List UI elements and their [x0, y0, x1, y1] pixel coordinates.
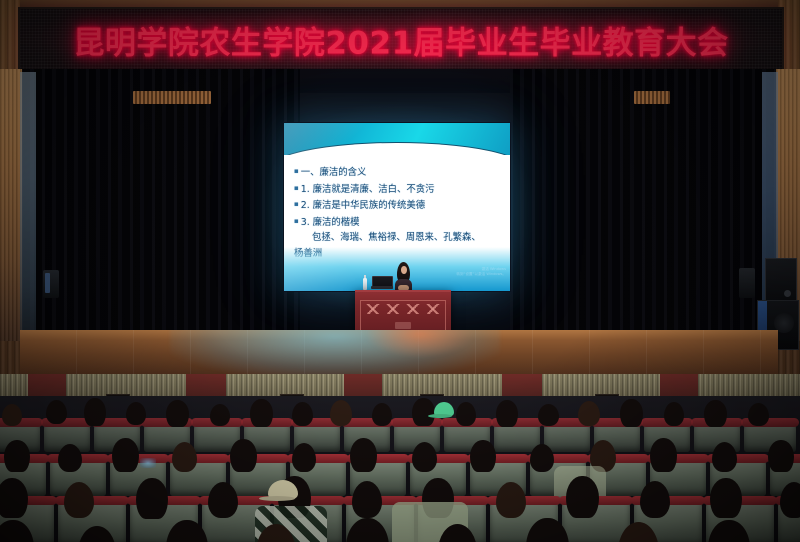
led-banner: 昆明学院农生学院2021届毕业生毕业教育大会: [18, 7, 784, 73]
laptop-base: [371, 286, 393, 289]
audience-head: [578, 401, 600, 426]
seat: [544, 422, 590, 452]
audience-head: [172, 442, 197, 472]
audience-head: [780, 482, 800, 518]
audience-head: [496, 482, 526, 518]
audience-head: [292, 443, 316, 472]
slide-line-2: ▪1. 廉洁就是清廉、洁白、不贪污: [294, 181, 502, 198]
audience-head: [136, 478, 168, 519]
audience-head: [640, 481, 670, 518]
podium-zigzag-ornament: [363, 304, 443, 314]
auditorium-photo: 昆明学院农生学院2021届毕业生毕业教育大会 ▪一、廉洁的含义: [0, 0, 800, 542]
audience-head: [350, 438, 377, 472]
phone-screen-glow: [140, 458, 156, 468]
audience-head: [768, 440, 794, 472]
audience-head: [352, 481, 382, 518]
audience-head: [748, 403, 769, 426]
slide-line-4: ▪3. 廉洁的楷模: [294, 214, 502, 231]
slide-bullet-icon: ▪: [294, 217, 299, 225]
slide-header-band: [284, 123, 510, 155]
audience-head: [704, 400, 727, 427]
audience-head: [210, 404, 230, 426]
presenter-face: [401, 266, 407, 274]
audience-head: [0, 478, 28, 518]
water-bottle: [363, 278, 367, 290]
loudspeaker-top-cabinet: [765, 258, 797, 302]
audience-head: [112, 438, 139, 472]
valance-trim-left: [133, 91, 211, 104]
side-wood-left: [0, 69, 22, 341]
audience-seating: [0, 396, 800, 542]
audience-head: [664, 402, 684, 426]
audience-head: [412, 398, 435, 426]
slide-bullet-icon: ▪: [294, 200, 299, 208]
audience-head: [470, 440, 496, 472]
audience-head: [620, 399, 643, 427]
audience-head: [372, 403, 392, 426]
side-accent-strip-left: [20, 72, 36, 340]
led-banner-text: 昆明学院农生学院2021届毕业生毕业教育大会: [20, 18, 782, 63]
audience-head: [710, 478, 742, 518]
podium-emblem: [395, 322, 411, 329]
audience-head: [64, 482, 94, 518]
audience-head: [4, 440, 30, 472]
curtain-left: [20, 69, 300, 344]
audience-head: [292, 402, 313, 426]
slide-header-curve: [284, 143, 510, 155]
audience-head: [412, 442, 437, 472]
audience-head: [496, 400, 518, 427]
audience-head: [166, 400, 189, 427]
audience-head: [250, 399, 273, 427]
slide-line-3: ▪2. 廉洁是中华民族的传统美德: [294, 197, 502, 214]
audience-head: [538, 404, 559, 426]
valance-trim-right: [634, 91, 670, 104]
audience-head: [126, 402, 146, 425]
audience-head: [58, 444, 82, 472]
audience-head: [2, 404, 22, 426]
audience-head: [46, 400, 67, 424]
curtain-right: [510, 69, 778, 344]
audience-head: [566, 476, 599, 518]
loudspeaker-stage-right: [739, 268, 755, 298]
stage-floor-warm-reflection: [365, 330, 475, 358]
slide-bullet-icon: ▪: [294, 184, 299, 192]
audience-head: [330, 400, 352, 426]
audience-head: [230, 439, 257, 472]
audience-head: [712, 442, 737, 472]
slide-line-5: 包拯、海瑞、焦裕禄、周恩来、孔繁森、: [294, 230, 502, 246]
audience-head: [84, 398, 106, 426]
audience-head: [456, 402, 476, 426]
audience-head: [530, 444, 554, 472]
audience-head: [650, 438, 677, 472]
audience-cap: [434, 402, 454, 417]
windows-activation-watermark: 激活 Windows 转到“设置”以激活 Windows。: [456, 267, 506, 277]
slide-line-1: ▪一、廉洁的含义: [294, 164, 502, 181]
stage-floor: [20, 330, 778, 376]
audience-head: [208, 482, 238, 518]
presenter: [395, 262, 412, 292]
slide-bullet-icon: ▪: [294, 167, 299, 175]
loudspeaker-stage-left: [43, 270, 59, 298]
